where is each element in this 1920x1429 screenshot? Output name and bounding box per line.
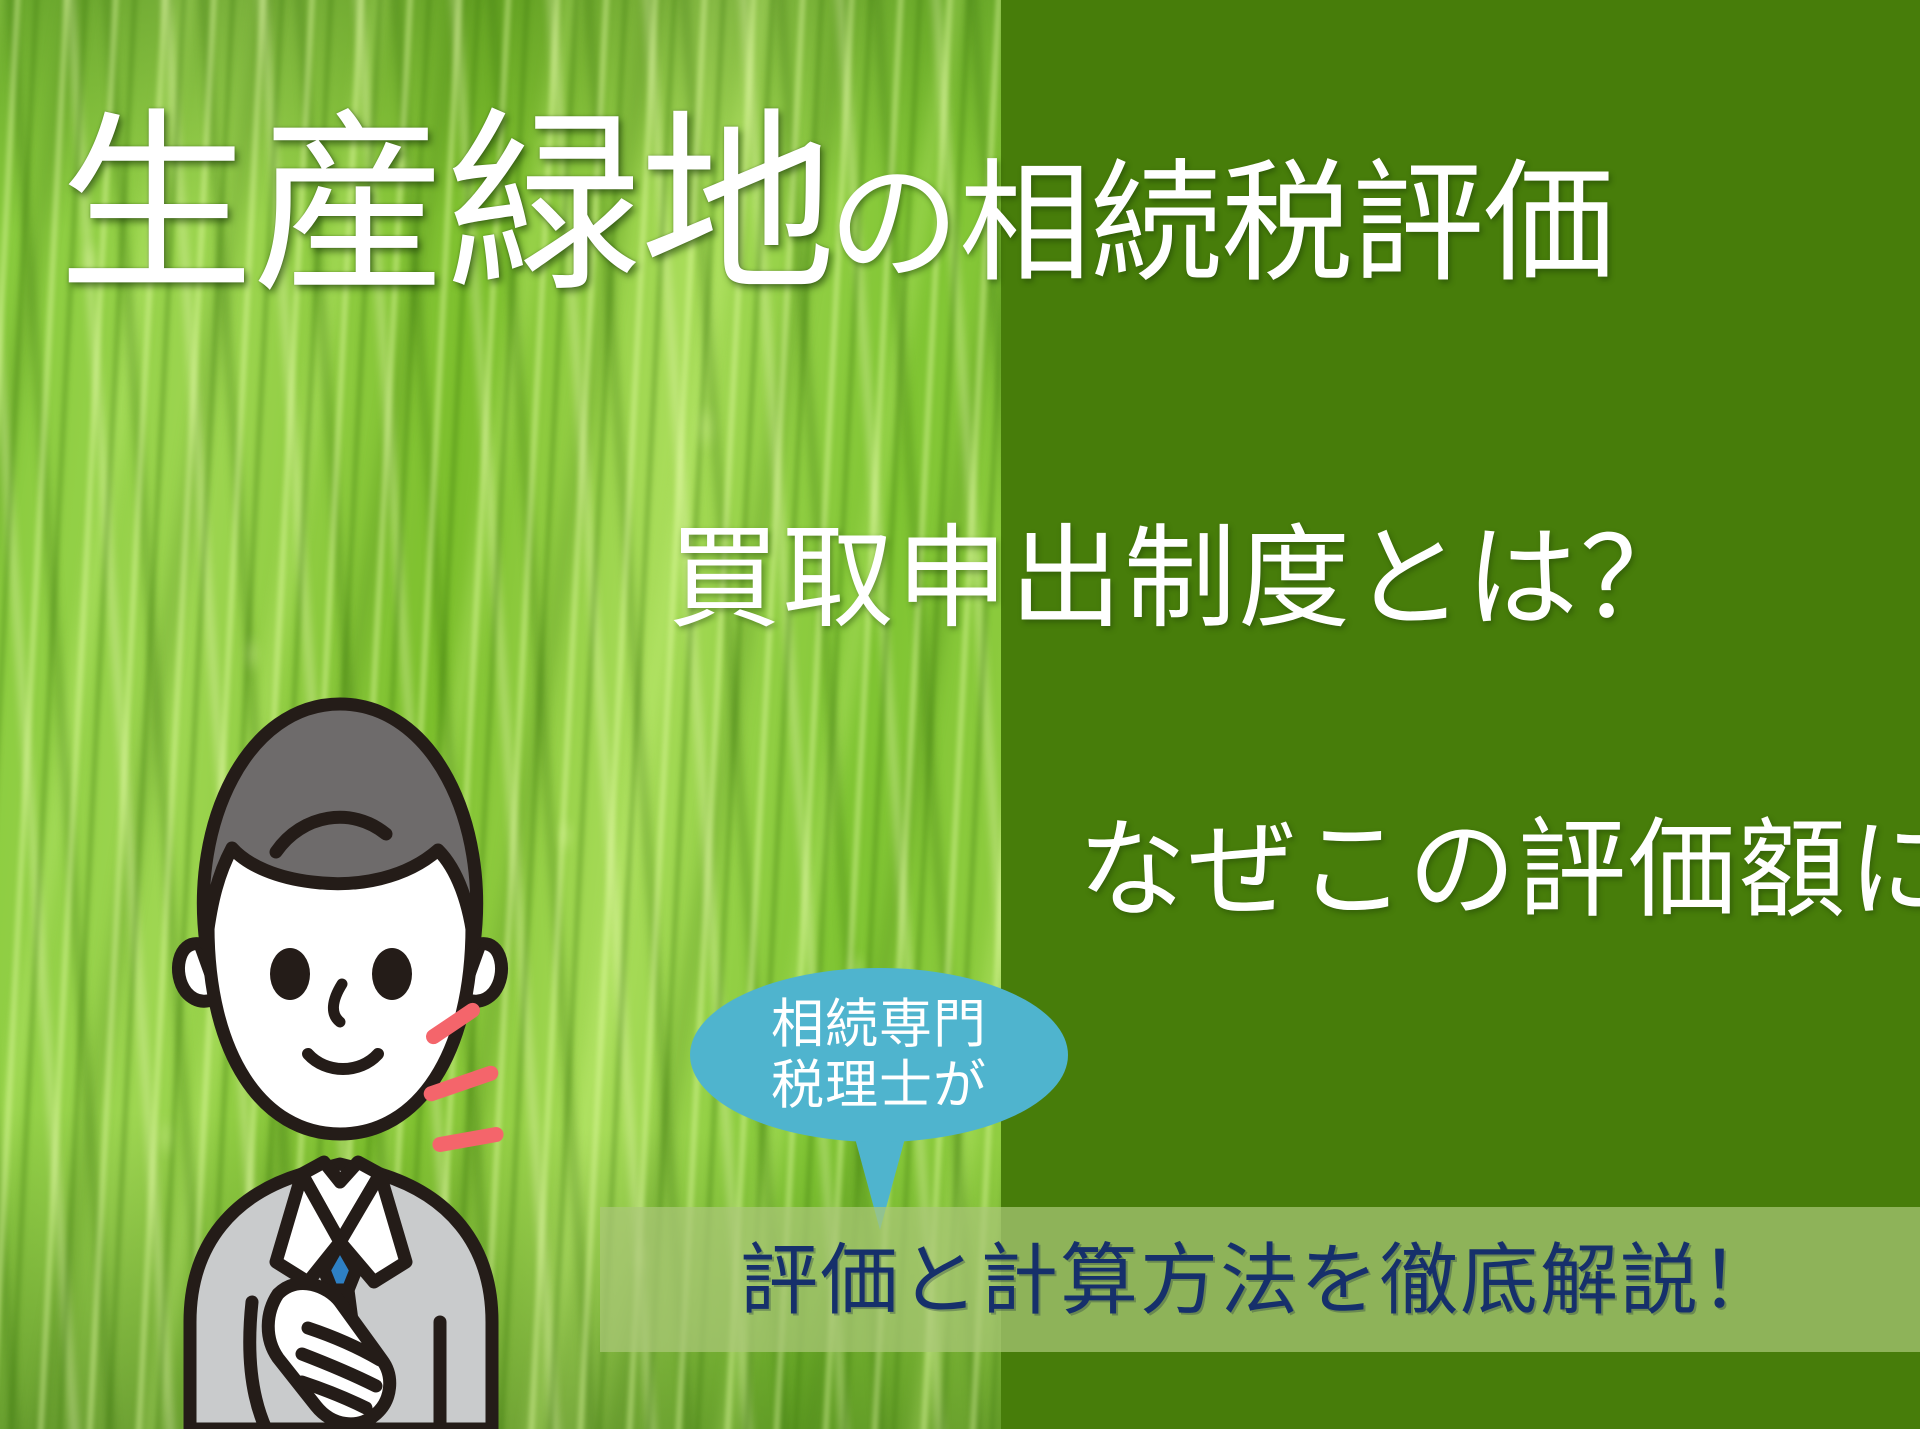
question-line-2: なぜこの評価額に？ [1078, 818, 1920, 926]
thumbnail-canvas: 生産緑地 の相続税評価 買取申出制度とは？ なぜこの評価額に？ [0, 0, 1920, 1429]
speech-bubble: 相続専門 税理士が [690, 968, 1068, 1142]
motion-line-3 [431, 1126, 505, 1153]
headline-main-term: 生産緑地 [58, 108, 834, 304]
eye-right [372, 948, 412, 1000]
eye-left [270, 948, 310, 1000]
motion-line-1 [423, 1000, 483, 1047]
speech-bubble-line-1: 相続専門 [771, 994, 987, 1055]
bottom-banner-text: 評価と計算方法を徹底解説！ [740, 1241, 1780, 1319]
headline: 生産緑地 の相続税評価 [58, 108, 1614, 304]
speech-bubble-line-2: 税理士が [771, 1055, 987, 1116]
motion-lines [430, 1000, 630, 1190]
headline-subtitle: の相続税評価 [828, 158, 1614, 304]
bottom-banner: 評価と計算方法を徹底解説！ [600, 1207, 1920, 1352]
motion-line-2 [422, 1064, 501, 1104]
question-line-1: 買取申出制度とは？ [668, 524, 1694, 636]
tie-knot [324, 1242, 356, 1290]
speech-bubble-body: 相続専門 税理士が [690, 968, 1068, 1142]
